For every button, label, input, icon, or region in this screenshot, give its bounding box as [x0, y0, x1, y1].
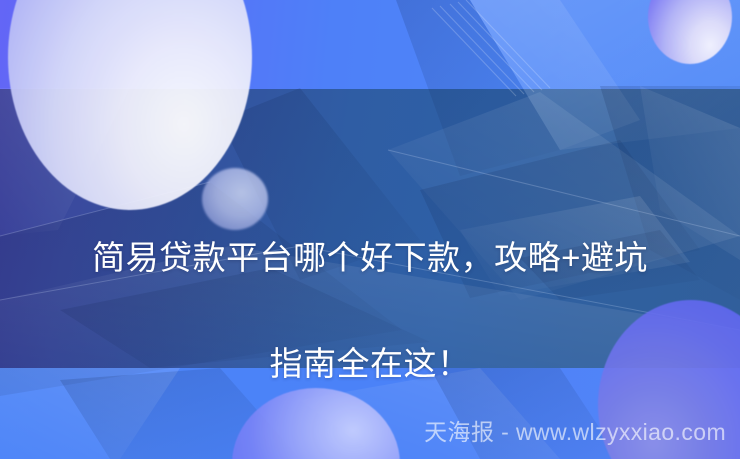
headline-line-2: 指南全在这！	[0, 337, 740, 390]
poster-headline: 简易贷款平台哪个好下款，攻略+避坑 指南全在这！	[0, 178, 740, 443]
site-watermark: 天海报 - www.wlzyxxiao.com	[424, 413, 726, 447]
poster-canvas: 简易贷款平台哪个好下款，攻略+避坑 指南全在这！ 天海报 - www.wlzyx…	[0, 0, 740, 459]
headline-line-1: 简易贷款平台哪个好下款，攻略+避坑	[0, 231, 740, 284]
